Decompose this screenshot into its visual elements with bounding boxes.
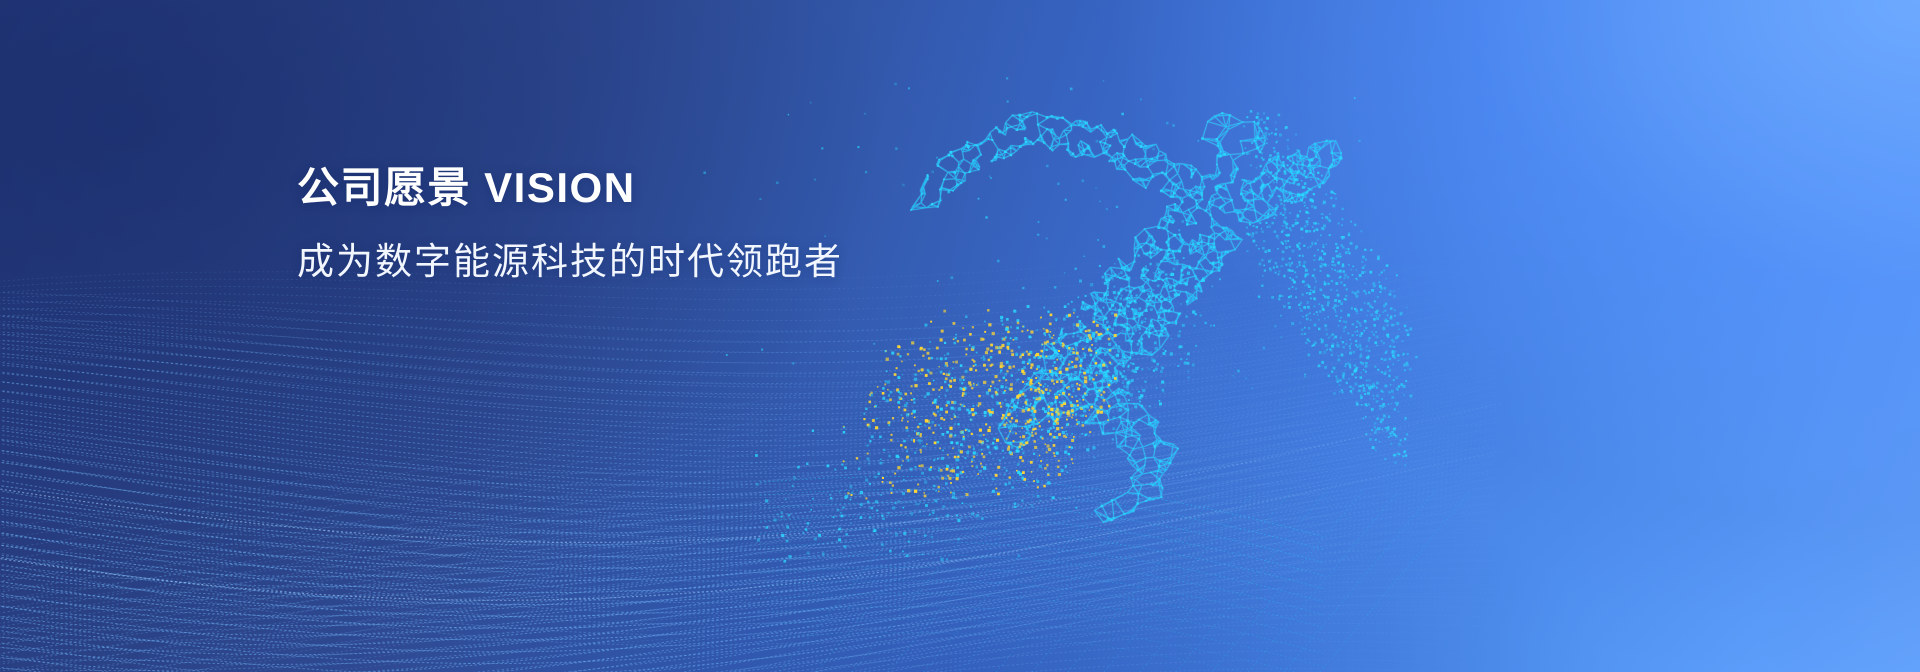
vision-banner: 公司愿景 VISION 成为数字能源科技的时代领跑者 [0,0,1920,672]
banner-text-block: 公司愿景 VISION 成为数字能源科技的时代领跑者 [297,163,843,285]
running-man-wireframe-figure [0,0,1920,672]
banner-headline: 公司愿景 VISION [297,163,843,213]
banner-subheadline: 成为数字能源科技的时代领跑者 [297,239,843,285]
